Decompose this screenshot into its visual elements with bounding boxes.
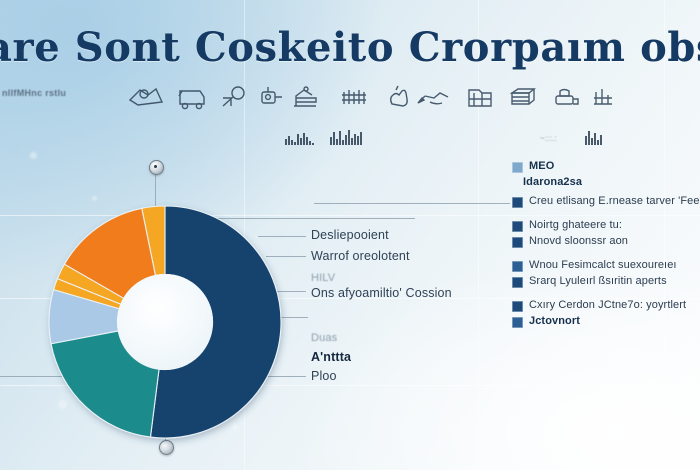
legend-label: Jctovnort xyxy=(529,315,580,328)
document-stack-icon xyxy=(126,82,166,112)
legend-item[interactable]: Creu etlisang E.rnease tarver 'Fee xyxy=(512,195,700,208)
micro-bars-left xyxy=(285,131,314,145)
callout-label: Ploo xyxy=(311,369,337,383)
donut-slice-teal[interactable] xyxy=(51,331,159,437)
folder-open-icon xyxy=(460,82,500,112)
pen-scribble-icon xyxy=(414,82,454,112)
printer-icon xyxy=(548,82,588,112)
bokeh-speck xyxy=(30,152,37,159)
legend-swatch xyxy=(512,277,523,288)
page-title: are Sont Coskeito Crorpaım obsıt xyxy=(0,24,700,71)
legend-item[interactable]: Wnou Fesimcalct suexoureıeı xyxy=(512,259,700,272)
donut-svg xyxy=(47,204,283,440)
legend-item[interactable]: Cxıry Cerdon JCtne7o: yoyrtlert xyxy=(512,299,700,312)
micro-bars-mid xyxy=(330,129,362,145)
icon-strip-caption: nllfMHnc rstlu xyxy=(2,88,66,98)
leader-line-legend-top xyxy=(314,203,510,204)
legend-label: Cxıry Cerdon JCtne7o: yoyrtlert xyxy=(529,299,686,312)
tag-pin-icon xyxy=(214,82,254,112)
legend-label: Creu etlisang E.rnease tarver 'Fee xyxy=(529,195,700,208)
legend-swatch xyxy=(512,237,523,248)
legend-swatch xyxy=(512,221,523,232)
legend-swatch xyxy=(512,261,523,272)
legend-label: Idarona2sa xyxy=(523,176,582,189)
micro-bars-right xyxy=(585,130,602,145)
legend-swatch xyxy=(512,301,523,312)
layered-box-icon xyxy=(504,82,544,112)
legend-swatch xyxy=(512,197,523,208)
micro-fuzz-text: ~:::.: xyxy=(540,134,557,143)
legend-swatch xyxy=(512,162,523,173)
hand-gesture-icon xyxy=(378,82,418,112)
icon-strip: nllfMHnc rstlu xyxy=(0,80,700,114)
legend-label: Wnou Fesimcalct suexoureıeı xyxy=(529,259,677,272)
legend-item[interactable]: MEO xyxy=(512,160,700,173)
bokeh-speck xyxy=(668,424,675,431)
legend-item[interactable]: Nnovd sloonssr aon xyxy=(512,235,700,248)
chart-bars-icon xyxy=(584,82,624,112)
bokeh-speck xyxy=(92,196,97,201)
legend-label: Srarq Lyuleırl ßsıritin aperts xyxy=(529,275,667,288)
legend-label: MEO xyxy=(529,160,554,173)
legend-label: Noirtg ghateere tu: xyxy=(529,219,622,232)
lamp-desk-icon xyxy=(286,82,326,112)
donut-slice-navy-major[interactable] xyxy=(150,206,281,438)
callout-label: A'nttta xyxy=(311,350,351,364)
database-icon xyxy=(172,82,212,112)
fence-bars-icon xyxy=(336,82,376,112)
callout-label: Ons afyoamiltio' Cossion xyxy=(311,286,452,300)
callout-label: Desliepooient xyxy=(311,228,389,242)
legend-item[interactable]: Noirtg ghateere tu: xyxy=(512,219,700,232)
chart-pin-marker-top[interactable] xyxy=(149,160,164,175)
callout-label: Warrof oreolotent xyxy=(311,249,410,263)
callout-label: Duas xyxy=(311,332,337,344)
legend-item[interactable]: Idarona2sa xyxy=(512,176,700,189)
chart-pin-marker-bottom[interactable] xyxy=(159,440,174,455)
donut-chart[interactable] xyxy=(47,204,283,440)
callout-label: HILV xyxy=(311,272,335,284)
legend-item[interactable]: Srarq Lyuleırl ßsıritin aperts xyxy=(512,275,700,288)
chart-legend: MEOIdarona2saCreu etlisang E.rnease tarv… xyxy=(512,160,700,331)
legend-swatch xyxy=(512,317,523,328)
legend-label: Nnovd sloonssr aon xyxy=(529,235,628,248)
infographic-canvas: are Sont Coskeito Crorpaım obsıt nllfMHn… xyxy=(0,0,700,470)
legend-item[interactable]: Jctovnort xyxy=(512,315,700,328)
